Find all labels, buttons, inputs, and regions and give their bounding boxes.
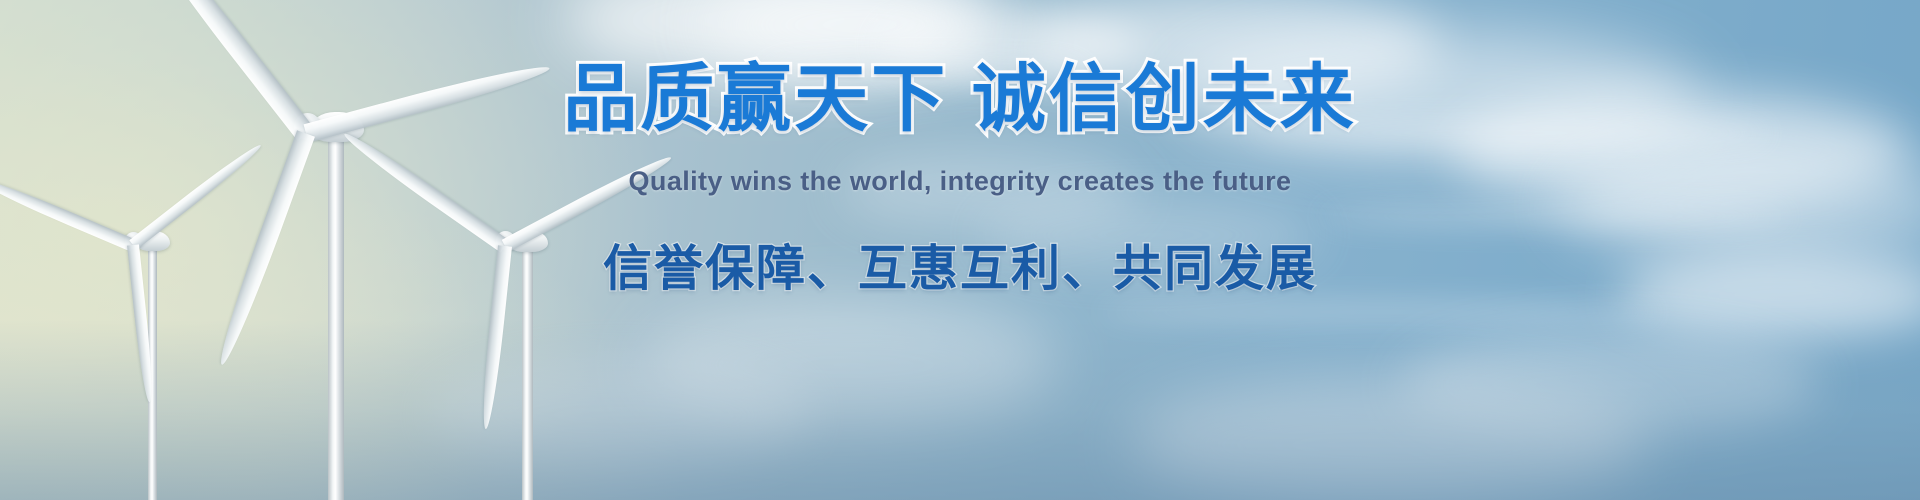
wind-turbine-right [330, 60, 790, 500]
promotional-banner: 品质赢天下 诚信创未来 Quality wins the world, inte… [0, 0, 1920, 500]
